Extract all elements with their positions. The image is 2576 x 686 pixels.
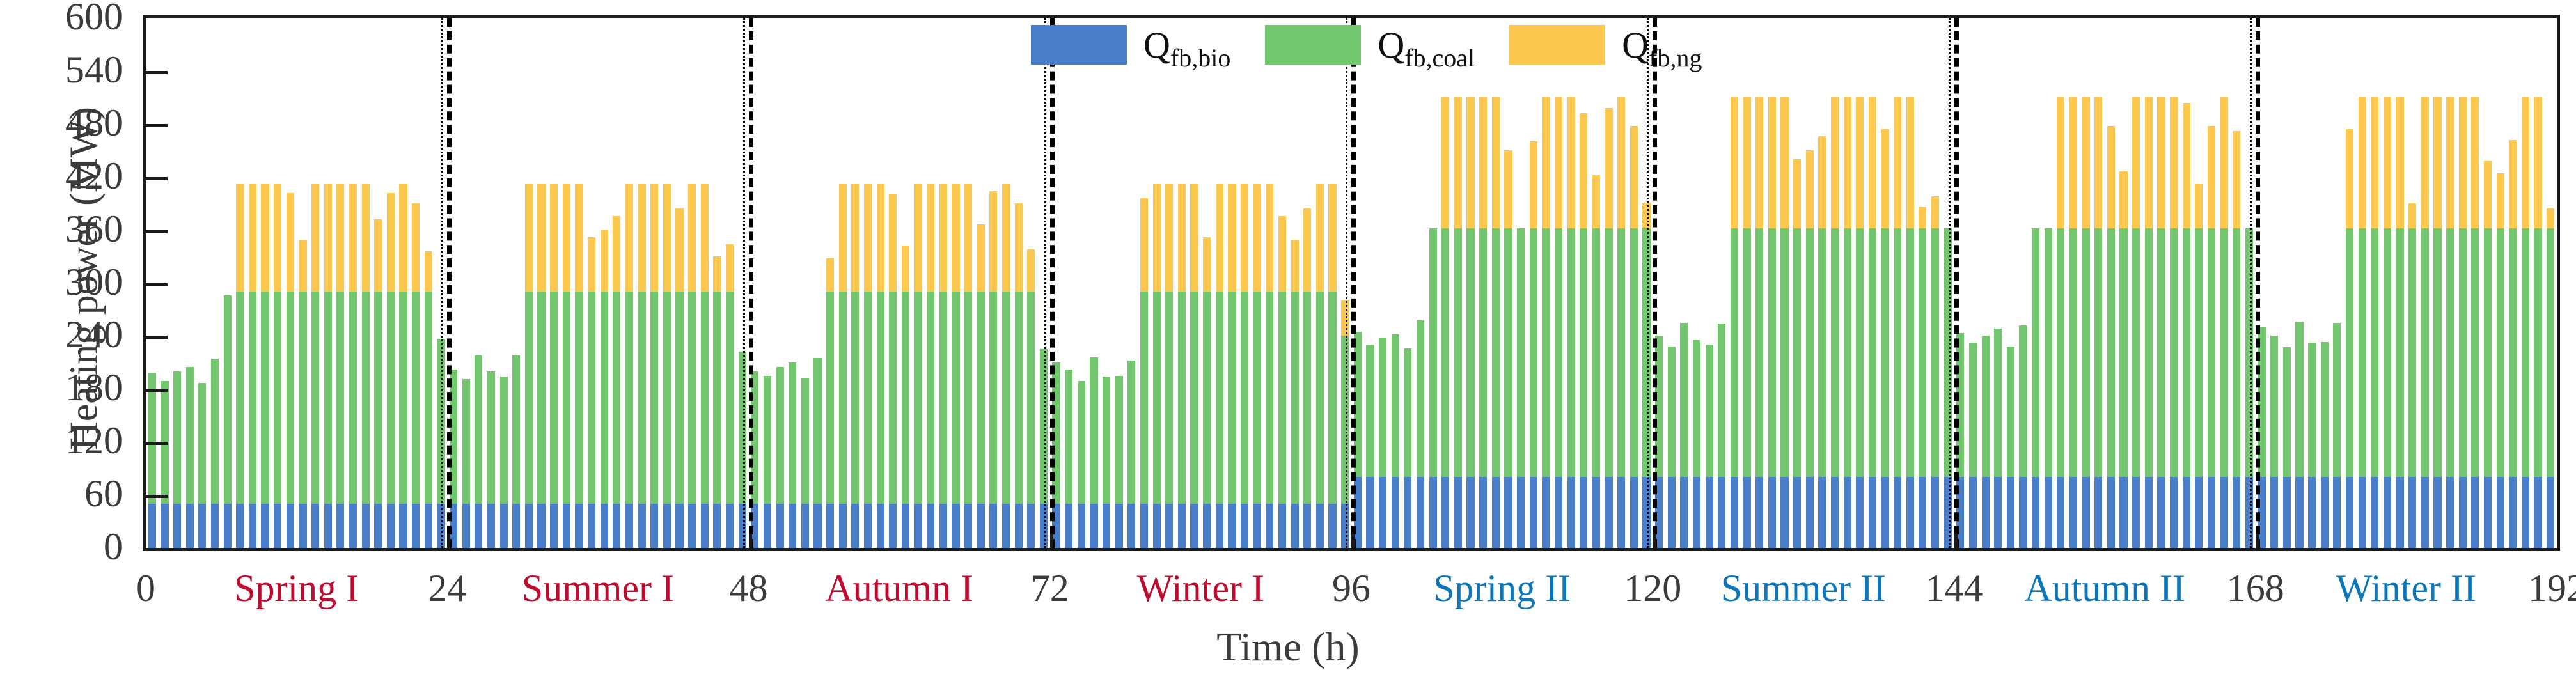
bar-segment-bio — [889, 504, 897, 548]
bar-segment-coal — [1165, 292, 1173, 504]
bar-segment-coal — [311, 292, 319, 504]
bar-segment-coal — [1153, 292, 1161, 504]
bar-segment-bio — [1806, 477, 1814, 548]
bar-segment-coal — [650, 292, 658, 504]
bar-segment-coal — [1668, 347, 1676, 477]
bar-segment-bio — [2359, 477, 2366, 548]
bar-column — [2119, 18, 2127, 548]
bar-column — [1517, 18, 1525, 548]
bar-segment-coal — [2270, 336, 2278, 477]
y-axis-tick — [146, 124, 168, 127]
bar-segment-ng — [2384, 97, 2391, 228]
bar-column — [1178, 18, 1186, 548]
bar-segment-coal — [148, 373, 156, 503]
bar-column — [726, 18, 734, 548]
bar-segment-bio — [638, 504, 646, 548]
bar-segment-coal — [1392, 334, 1399, 478]
bar-segment-ng — [299, 240, 306, 292]
season-label-winter-i: Winter I — [1066, 569, 1335, 607]
bar-segment-bio — [1580, 477, 1587, 548]
bar-column — [1818, 18, 1826, 548]
bar-segment-coal — [2408, 228, 2416, 478]
bar-segment-coal — [675, 292, 683, 504]
bar-segment-bio — [989, 504, 997, 548]
bar-column — [2007, 18, 2014, 548]
bar-column — [1303, 18, 1311, 548]
bar-segment-ng — [2057, 97, 2064, 228]
bar-segment-coal — [776, 367, 784, 504]
legend-item-ng: Qfb,ng — [1509, 24, 1736, 66]
bar-column — [1090, 18, 1097, 548]
bar-column — [2484, 18, 2492, 548]
bar-segment-bio — [2534, 477, 2541, 548]
bar-segment-coal — [927, 292, 934, 504]
bar-segment-coal — [813, 358, 821, 504]
bar-segment-bio — [1969, 477, 1977, 548]
y-axis-tick — [146, 495, 168, 498]
bar-segment-coal — [475, 355, 482, 504]
bar-column — [1392, 18, 1399, 548]
bar-segment-bio — [224, 504, 232, 548]
bar-column — [1103, 18, 1110, 548]
bar-segment-bio — [688, 504, 696, 548]
bar-segment-coal — [1693, 340, 1700, 477]
bar-segment-ng — [1542, 97, 1550, 228]
bar-segment-bio — [839, 504, 847, 548]
bar-segment-ng — [1178, 184, 1186, 292]
bar-segment-ng — [1617, 97, 1625, 228]
bar-segment-coal — [525, 292, 533, 504]
bar-column — [261, 18, 269, 548]
bar-segment-ng — [902, 246, 909, 292]
bar-segment-coal — [1906, 228, 1914, 478]
bar-segment-bio — [713, 504, 721, 548]
bar-segment-ng — [374, 219, 382, 292]
bar-segment-bio — [487, 504, 495, 548]
bar-segment-coal — [2534, 228, 2541, 478]
bar-segment-bio — [2094, 477, 2102, 548]
bar-segment-bio — [1153, 504, 1161, 548]
season-separator-dotted — [1647, 18, 1649, 548]
bar-segment-ng — [236, 184, 244, 292]
bar-segment-bio — [2270, 477, 2278, 548]
bar-segment-bio — [537, 504, 545, 548]
bar-column — [349, 18, 357, 548]
bar-segment-coal — [1140, 292, 1148, 504]
bar-column — [663, 18, 671, 548]
bar-segment-bio — [864, 504, 872, 548]
bar-segment-ng — [1328, 184, 1336, 292]
bar-segment-ng — [1768, 97, 1776, 228]
y-axis-tick — [146, 230, 168, 233]
bar-column — [186, 18, 194, 548]
bar-column — [1969, 18, 1977, 548]
y-axis-tick — [146, 389, 168, 392]
bar-segment-coal — [1479, 228, 1487, 478]
bar-column — [2057, 18, 2064, 548]
bar-column — [1931, 18, 1939, 548]
bar-column — [713, 18, 721, 548]
bar-segment-ng — [1241, 184, 1248, 292]
bar-column — [1002, 18, 1010, 548]
bar-segment-ng — [2371, 97, 2378, 228]
bar-segment-ng — [2195, 184, 2203, 228]
bar-segment-bio — [663, 504, 671, 548]
bar-segment-ng — [2421, 97, 2429, 228]
bar-column — [1078, 18, 1085, 548]
bar-column — [801, 18, 809, 548]
bar-column — [1731, 18, 1738, 548]
bar-column — [198, 18, 206, 548]
bar-segment-bio — [1328, 504, 1336, 548]
bar-segment-bio — [1027, 504, 1035, 548]
bar-segment-bio — [1015, 504, 1023, 548]
bar-segment-ng — [2183, 103, 2190, 228]
bar-segment-ng — [650, 184, 658, 292]
season-label-spring-ii: Spring II — [1368, 569, 1637, 607]
bar-column — [789, 18, 796, 548]
bar-segment-coal — [1982, 336, 1990, 477]
bar-segment-coal — [2547, 228, 2554, 478]
bar-segment-bio — [161, 504, 168, 548]
bar-column — [1065, 18, 1072, 548]
bar-segment-ng — [261, 184, 269, 292]
bar-segment-ng — [412, 203, 420, 292]
bar-segment-ng — [1153, 184, 1161, 292]
bar-segment-bio — [2019, 477, 2027, 548]
bar-segment-coal — [601, 292, 608, 504]
bar-segment-bio — [2119, 477, 2127, 548]
bar-segment-ng — [1190, 184, 1198, 292]
bar-column — [1894, 18, 1901, 548]
bar-column — [927, 18, 934, 548]
bar-segment-coal — [2346, 228, 2353, 478]
bar-segment-bio — [1718, 477, 1725, 548]
bar-segment-ng — [1303, 208, 1311, 292]
bar-segment-coal — [2433, 228, 2441, 478]
bar-column — [776, 18, 784, 548]
bar-column — [2509, 18, 2517, 548]
bar-segment-coal — [324, 292, 332, 504]
season-separator-dashed — [749, 18, 753, 548]
bar-segment-bio — [249, 504, 256, 548]
bar-segment-coal — [1818, 228, 1826, 478]
bar-segment-coal — [462, 379, 470, 504]
bar-column — [1190, 18, 1198, 548]
bar-column — [525, 18, 533, 548]
bar-column — [2233, 18, 2240, 548]
bar-segment-bio — [764, 504, 771, 548]
bar-segment-coal — [2471, 228, 2479, 478]
bar-column — [512, 18, 520, 548]
bar-segment-bio — [1178, 504, 1186, 548]
bar-segment-bio — [1266, 504, 1273, 548]
bar-segment-coal — [287, 292, 294, 504]
bar-segment-ng — [336, 184, 344, 292]
y-axis-tick — [146, 177, 168, 180]
bar-segment-ng — [1454, 97, 1462, 228]
bar-segment-bio — [425, 504, 432, 548]
bar-column — [1856, 18, 1864, 548]
bar-segment-ng — [701, 184, 709, 292]
bar-segment-bio — [387, 504, 395, 548]
bar-column — [952, 18, 959, 548]
bar-column — [864, 18, 872, 548]
bar-column — [2094, 18, 2102, 548]
bar-segment-coal — [1316, 292, 1324, 504]
bar-segment-bio — [701, 504, 709, 548]
bar-column — [1466, 18, 1474, 548]
bar-column — [2384, 18, 2391, 548]
bar-segment-bio — [2132, 477, 2140, 548]
bar-column — [1441, 18, 1449, 548]
bar-segment-coal — [224, 295, 232, 504]
bar-segment-coal — [211, 359, 219, 504]
bar-segment-coal — [2396, 228, 2403, 478]
bar-segment-ng — [349, 184, 357, 292]
bar-column — [2208, 18, 2215, 548]
bar-column — [1994, 18, 2002, 548]
bar-segment-bio — [1743, 477, 1750, 548]
bar-segment-bio — [1002, 504, 1010, 548]
bar-segment-ng — [550, 184, 558, 292]
bar-column — [889, 18, 897, 548]
bar-segment-ng — [2484, 161, 2492, 228]
bar-segment-ng — [1492, 97, 1500, 228]
bar-segment-coal — [726, 292, 734, 504]
bar-column — [1592, 18, 1600, 548]
bar-column — [1328, 18, 1336, 548]
bar-segment-coal — [625, 292, 633, 504]
bar-column — [462, 18, 470, 548]
bar-segment-ng — [2069, 97, 2077, 228]
bar-segment-coal — [1190, 292, 1198, 504]
bar-segment-bio — [1555, 477, 1562, 548]
bar-segment-coal — [864, 292, 872, 504]
bar-segment-coal — [2107, 228, 2115, 478]
bar-column — [1479, 18, 1487, 548]
y-axis-tick-label: 360 — [27, 210, 123, 248]
season-label-spring-i: Spring I — [162, 569, 431, 607]
bar-segment-ng — [1731, 97, 1738, 228]
bar-segment-coal — [977, 292, 985, 504]
bar-column — [374, 18, 382, 548]
bar-segment-ng — [274, 184, 281, 292]
bar-segment-coal — [349, 292, 357, 504]
bar-segment-bio — [952, 504, 959, 548]
bar-segment-bio — [2082, 477, 2090, 548]
bar-column — [2522, 18, 2529, 548]
bar-segment-ng — [2471, 97, 2479, 228]
bar-segment-ng — [2107, 126, 2115, 228]
bar-column — [2346, 18, 2353, 548]
bar-column — [1278, 18, 1286, 548]
bar-segment-bio — [2032, 477, 2039, 548]
bar-segment-coal — [1266, 292, 1273, 504]
bar-segment-bio — [1919, 477, 1926, 548]
bar-segment-bio — [500, 504, 508, 548]
bar-segment-ng — [638, 184, 646, 292]
bar-segment-coal — [2082, 228, 2090, 478]
bar-column — [211, 18, 219, 548]
bar-segment-ng — [2509, 140, 2517, 228]
bar-column — [2534, 18, 2541, 548]
bar-segment-bio — [399, 504, 407, 548]
bar-column — [1228, 18, 1236, 548]
bar-segment-ng — [2082, 97, 2090, 228]
bar-segment-bio — [1768, 477, 1776, 548]
legend-swatch-ng — [1509, 25, 1605, 65]
bar-segment-bio — [1605, 477, 1612, 548]
bar-segment-bio — [1454, 477, 1462, 548]
bar-segment-bio — [1982, 477, 1990, 548]
bar-segment-bio — [324, 504, 332, 548]
bar-segment-ng — [2170, 97, 2178, 228]
bar-segment-bio — [336, 504, 344, 548]
bar-segment-coal — [914, 292, 922, 504]
bar-segment-ng — [575, 184, 583, 292]
bar-segment-coal — [939, 292, 947, 504]
bar-segment-coal — [2359, 228, 2366, 478]
bar-segment-coal — [1755, 228, 1763, 478]
bar-segment-ng — [311, 184, 319, 292]
bar-column — [1755, 18, 1763, 548]
bar-segment-coal — [2421, 228, 2429, 478]
bar-segment-coal — [2459, 228, 2467, 478]
bar-column — [1530, 18, 1537, 548]
bar-column — [1831, 18, 1839, 548]
bar-segment-coal — [362, 292, 370, 504]
bar-segment-coal — [2157, 228, 2165, 478]
bar-segment-coal — [1178, 292, 1186, 504]
bar-segment-ng — [2534, 97, 2541, 228]
bar-segment-coal — [1680, 323, 1688, 478]
bar-segment-ng — [1919, 207, 1926, 228]
bar-segment-bio — [1479, 477, 1487, 548]
bar-column — [311, 18, 319, 548]
legend-label-coal: Qfb,coal — [1378, 24, 1475, 66]
bar-column — [688, 18, 696, 548]
bar-segment-ng — [2346, 129, 2353, 228]
bar-segment-coal — [1228, 292, 1236, 504]
bar-column — [1115, 18, 1123, 548]
bar-segment-coal — [2283, 347, 2291, 477]
y-axis-tick-label: 600 — [27, 0, 123, 36]
bar-segment-bio — [1316, 504, 1324, 548]
bar-segment-ng — [839, 184, 847, 292]
bar-segment-bio — [1366, 477, 1374, 548]
bar-segment-coal — [2057, 228, 2064, 478]
bar-segment-coal — [2371, 228, 2378, 478]
bar-column — [1919, 18, 1926, 548]
bar-segment-coal — [902, 292, 909, 504]
bar-segment-ng — [1165, 184, 1173, 292]
bar-segment-bio — [1291, 504, 1299, 548]
bar-segment-coal — [1731, 228, 1738, 478]
bar-segment-coal — [2019, 325, 2027, 478]
bar-segment-coal — [387, 292, 395, 504]
bar-segment-coal — [688, 292, 696, 504]
bar-segment-ng — [1869, 97, 1876, 228]
bar-segment-coal — [1127, 361, 1135, 504]
bar-segment-bio — [349, 504, 357, 548]
bar-segment-bio — [1404, 477, 1411, 548]
bar-segment-ng — [713, 256, 721, 292]
bar-segment-coal — [1379, 338, 1386, 477]
bar-segment-coal — [1567, 228, 1575, 478]
bar-column — [287, 18, 294, 548]
bar-column — [2471, 18, 2479, 548]
bar-segment-bio — [2522, 477, 2529, 548]
bar-column — [1768, 18, 1776, 548]
bar-segment-coal — [537, 292, 545, 504]
bar-segment-coal — [1706, 345, 1713, 477]
bar-segment-bio — [877, 504, 884, 548]
bar-column — [2220, 18, 2228, 548]
bar-segment-bio — [2283, 477, 2291, 548]
bar-segment-ng — [387, 193, 395, 292]
bar-segment-ng — [1441, 97, 1449, 228]
bar-segment-bio — [1994, 477, 2002, 548]
bar-segment-coal — [2233, 228, 2240, 478]
bar-segment-ng — [2157, 97, 2165, 228]
bar-segment-coal — [1291, 292, 1299, 504]
bar-segment-ng — [1555, 97, 1562, 228]
bar-segment-bio — [2145, 477, 2153, 548]
bar-segment-coal — [1115, 376, 1123, 504]
bar-segment-coal — [1002, 292, 1010, 504]
bar-segment-ng — [287, 193, 294, 292]
bar-segment-coal — [1831, 228, 1839, 478]
bar-segment-ng — [1856, 97, 1864, 228]
bar-segment-bio — [1517, 477, 1525, 548]
bar-column — [1580, 18, 1587, 548]
bar-column — [236, 18, 244, 548]
bar-segment-coal — [1328, 292, 1336, 504]
bar-segment-coal — [1504, 228, 1512, 478]
bar-segment-ng — [877, 184, 884, 292]
y-axis-tick-label: 180 — [27, 368, 123, 407]
legend-label-ng: Qfb,ng — [1622, 24, 1702, 66]
bar-segment-bio — [1253, 504, 1261, 548]
bar-segment-ng — [625, 184, 633, 292]
bar-segment-bio — [2509, 477, 2517, 548]
bar-column — [2295, 18, 2303, 548]
bar-segment-ng — [1316, 184, 1324, 292]
bar-segment-coal — [1241, 292, 1248, 504]
bar-column — [2195, 18, 2203, 548]
bar-segment-ng — [1015, 203, 1023, 292]
bar-segment-ng — [1530, 141, 1537, 228]
bar-column — [2459, 18, 2467, 548]
bar-segment-coal — [663, 292, 671, 504]
bar-segment-bio — [1844, 477, 1851, 548]
bar-column — [2408, 18, 2416, 548]
y-axis-tick — [146, 71, 168, 74]
bar-segment-bio — [826, 504, 834, 548]
bar-segment-bio — [575, 504, 583, 548]
season-separator-dashed — [1954, 18, 1959, 548]
season-separator-dotted — [743, 18, 745, 548]
legend-swatch-coal — [1265, 25, 1361, 65]
bar-segment-bio — [789, 504, 796, 548]
bar-segment-bio — [2471, 477, 2479, 548]
bar-segment-bio — [2295, 477, 2303, 548]
bar-segment-coal — [173, 371, 181, 504]
bar-segment-coal — [186, 367, 194, 504]
bar-column — [1542, 18, 1550, 548]
bar-column — [487, 18, 495, 548]
